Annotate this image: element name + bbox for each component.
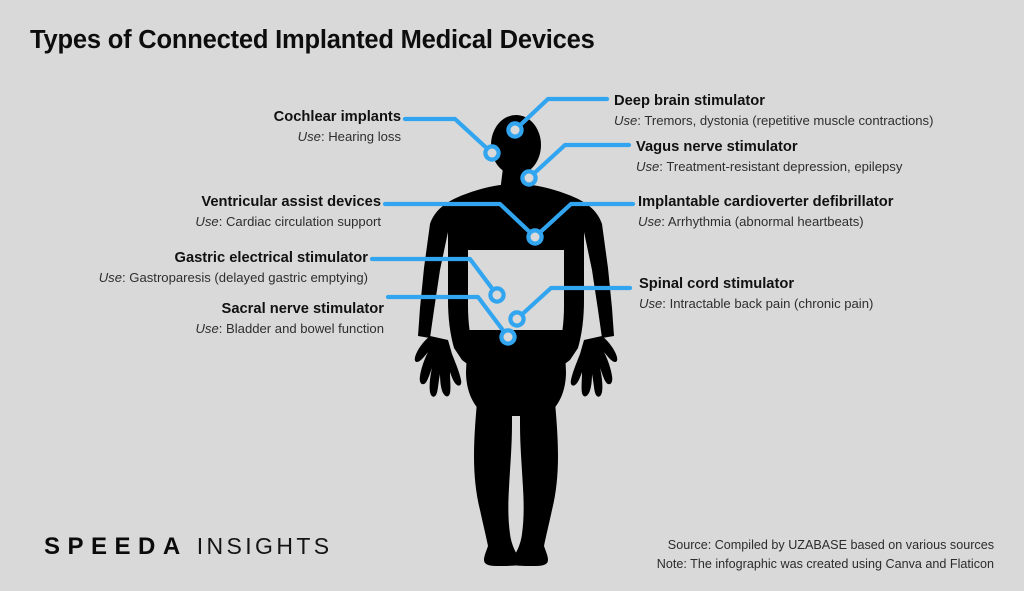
callout-title: Vagus nerve stimulator [636, 139, 902, 156]
callout-cochlear-implants[interactable]: Cochlear implants Use: Hearing loss [60, 109, 401, 145]
use-text: : Bladder and bowel function [219, 321, 384, 336]
callout-use: Use: Cardiac circulation support [40, 214, 381, 230]
callout-use: Use: Arrhythmia (abnormal heartbeats) [638, 214, 893, 230]
connector-sacral-nerve-stimulator [388, 297, 508, 337]
callout-title: Implantable cardioverter defibrillator [638, 194, 893, 211]
connector-vagus-nerve-stimulator [529, 145, 629, 178]
callout-title: Sacral nerve stimulator [40, 301, 384, 318]
callout-use: Use: Gastroparesis (delayed gastric empt… [20, 270, 368, 286]
connector-spinal-cord-stimulator [517, 288, 630, 319]
callout-use: Use: Tremors, dystonia (repetitive muscl… [614, 113, 933, 129]
connector-deep-brain-stimulator [515, 99, 607, 130]
callout-title: Ventricular assist devices [40, 194, 381, 211]
use-text: : Intractable back pain (chronic pain) [662, 296, 873, 311]
callout-ventricular-assist-devices[interactable]: Ventricular assist devices Use: Cardiac … [40, 194, 381, 230]
callout-implantable-cardioverter-defibrillator[interactable]: Implantable cardioverter defibrillator U… [638, 194, 893, 230]
use-label: Use [195, 321, 218, 336]
use-text: : Tremors, dystonia (repetitive muscle c… [637, 113, 933, 128]
marker-spinal-cord-stimulator [510, 312, 523, 325]
source-note-block: Source: Compiled by UZABASE based on var… [657, 536, 994, 574]
marker-gastric-electrical-stimulator [490, 288, 503, 301]
marker-sacral-nerve-stimulator [501, 330, 514, 343]
source-line: Source: Compiled by UZABASE based on var… [657, 536, 994, 555]
callout-sacral-nerve-stimulator[interactable]: Sacral nerve stimulator Use: Bladder and… [40, 301, 384, 337]
marker-deep-brain-stimulator [508, 123, 521, 136]
note-line: Note: The infographic was created using … [657, 555, 994, 574]
marker-cochlear-implants [485, 146, 498, 159]
callout-use: Use: Treatment-resistant depression, epi… [636, 159, 902, 175]
callout-gastric-electrical-stimulator[interactable]: Gastric electrical stimulator Use: Gastr… [20, 250, 368, 286]
use-label: Use [195, 214, 218, 229]
connector-cochlear-implants [405, 119, 492, 153]
use-text: : Gastroparesis (delayed gastric emptyin… [122, 270, 368, 285]
use-label: Use [99, 270, 122, 285]
use-text: : Cardiac circulation support [219, 214, 381, 229]
use-label: Use [614, 113, 637, 128]
connector-ventricular-assist-devices [385, 204, 535, 237]
connector-implantable-cardioverter-defibrillator [535, 204, 633, 237]
callout-spinal-cord-stimulator[interactable]: Spinal cord stimulator Use: Intractable … [639, 276, 873, 312]
use-text: : Treatment-resistant depression, epilep… [659, 159, 902, 174]
callout-title: Spinal cord stimulator [639, 276, 873, 293]
logo-brand-text: SPEEDA [44, 533, 188, 560]
callout-title: Deep brain stimulator [614, 93, 933, 110]
callout-title: Gastric electrical stimulator [20, 250, 368, 267]
use-label: Use [298, 129, 321, 144]
marker-cardiac-devices [528, 230, 541, 243]
callout-use: Use: Hearing loss [60, 129, 401, 145]
callout-vagus-nerve-stimulator[interactable]: Vagus nerve stimulator Use: Treatment-re… [636, 139, 902, 175]
use-label: Use [639, 296, 662, 311]
marker-vagus-nerve-stimulator [522, 171, 535, 184]
speeda-insights-logo: SPEEDAINSIGHTS [44, 535, 333, 559]
callout-use: Use: Bladder and bowel function [40, 321, 384, 337]
callout-deep-brain-stimulator[interactable]: Deep brain stimulator Use: Tremors, dyst… [614, 93, 933, 129]
use-text: : Hearing loss [321, 129, 401, 144]
callout-use: Use: Intractable back pain (chronic pain… [639, 296, 873, 312]
use-label: Use [638, 214, 661, 229]
infographic-canvas: Types of Connected Implanted Medical Dev… [0, 0, 1024, 591]
use-label: Use [636, 159, 659, 174]
logo-sub-text: INSIGHTS [197, 533, 333, 559]
callout-title: Cochlear implants [60, 109, 401, 126]
use-text: : Arrhythmia (abnormal heartbeats) [661, 214, 863, 229]
connector-gastric-electrical-stimulator [372, 259, 497, 295]
